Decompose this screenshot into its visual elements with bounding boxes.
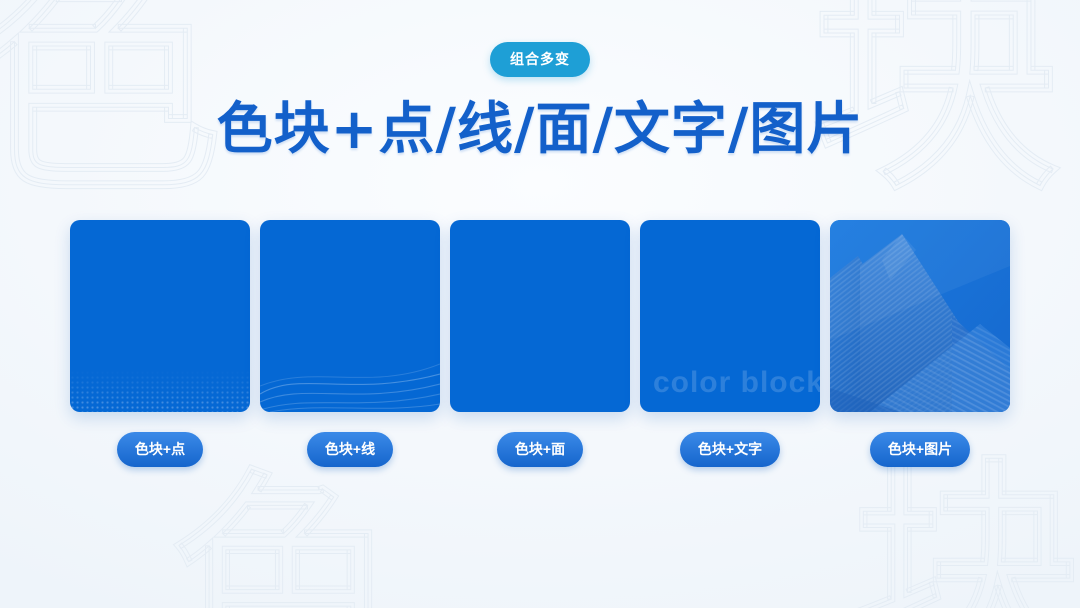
section-badge: 组合多变 bbox=[490, 42, 590, 77]
card-item-dot[interactable]: 色块+点 bbox=[70, 220, 250, 467]
building-photo bbox=[830, 220, 1010, 412]
color-block-text[interactable]: color block bbox=[640, 220, 820, 412]
watermark-bottom-right: 块 bbox=[851, 456, 1080, 608]
card-label-plane: 色块+面 bbox=[497, 432, 583, 467]
card-label-image: 色块+图片 bbox=[870, 432, 970, 467]
card-label-line: 色块+线 bbox=[307, 432, 393, 467]
dot-grid-pattern bbox=[70, 370, 250, 412]
card-item-image[interactable]: 色块+图片 bbox=[830, 220, 1010, 467]
card-item-line[interactable]: 色块+线 bbox=[260, 220, 440, 467]
flow-lines-pattern bbox=[260, 340, 440, 412]
overlay-ghost-text: color block bbox=[653, 366, 820, 400]
color-block-image[interactable] bbox=[830, 220, 1010, 412]
card-row: 色块+点 色块+线 色块+面 color block 色块+文字 bbox=[70, 220, 1010, 467]
badge-container: 组合多变 bbox=[0, 42, 1080, 77]
card-label-dot: 色块+点 bbox=[117, 432, 203, 467]
color-block-line[interactable] bbox=[260, 220, 440, 412]
card-item-plane[interactable]: 色块+面 bbox=[450, 220, 630, 467]
card-item-text[interactable]: color block 色块+文字 bbox=[640, 220, 820, 467]
color-block-plane[interactable] bbox=[450, 220, 630, 412]
page-title: 色块+点/线/面/文字/图片 bbox=[0, 84, 1080, 165]
watermark-bottom-left: 色 bbox=[170, 470, 405, 608]
card-label-text: 色块+文字 bbox=[680, 432, 780, 467]
color-block-dot[interactable] bbox=[70, 220, 250, 412]
